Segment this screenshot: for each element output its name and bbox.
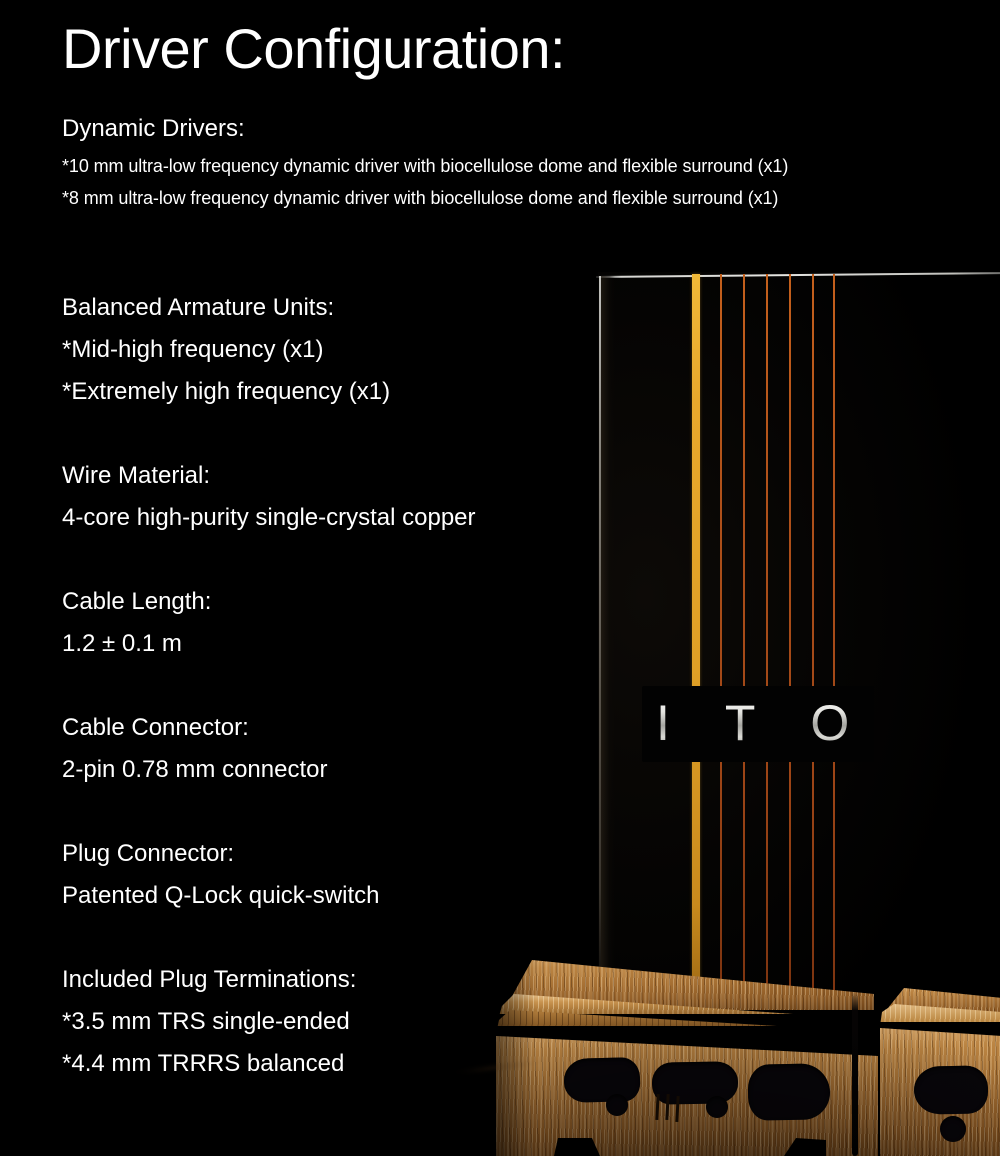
section-cable-connector: Cable Connector: 2-pin 0.78 mm connector — [62, 707, 327, 791]
section-cable-length: Cable Length: 1.2 ± 0.1 m — [62, 581, 211, 665]
box-top-edge-highlight — [596, 270, 1000, 282]
section-line: *3.5 mm TRS single-ended — [62, 1001, 356, 1043]
box-stripe-rust-5 — [812, 274, 814, 990]
section-line: *Extremely high frequency (x1) — [62, 371, 390, 413]
stand-section-seam — [852, 992, 858, 1156]
box-stripe-rust-6 — [833, 274, 835, 990]
brand-wordmark: I T O — [656, 698, 870, 748]
section-heading: Wire Material: — [62, 455, 476, 497]
section-dynamic-drivers: Dynamic Drivers: *10 mm ultra-low freque… — [62, 108, 788, 214]
stand-carving-hole-2 — [706, 1096, 728, 1118]
section-balanced-armature-units: Balanced Armature Units: *Mid-high frequ… — [62, 287, 390, 413]
section-heading: Cable Length: — [62, 581, 211, 623]
stand-carving-hole-1 — [606, 1094, 628, 1116]
section-plug-connector: Plug Connector: Patented Q-Lock quick-sw… — [62, 833, 379, 917]
section-line: *8 mm ultra-low frequency dynamic driver… — [62, 182, 788, 214]
box-stripe-rust-4 — [789, 274, 791, 990]
packaging-box — [598, 272, 1000, 992]
section-line: *Mid-high frequency (x1) — [62, 329, 390, 371]
section-line: 4-core high-purity single-crystal copper — [62, 497, 476, 539]
box-stripe-rust-1 — [720, 274, 722, 990]
section-line: *4.4 mm TRRRS balanced — [62, 1043, 356, 1085]
section-heading: Cable Connector: — [62, 707, 327, 749]
stand-carving-opening-1 — [563, 1057, 640, 1103]
stand-carving-opening-2 — [652, 1061, 739, 1104]
product-photo: I T O — [420, 250, 1000, 1156]
page-title: Driver Configuration: — [62, 18, 565, 80]
stand-carving-hole-3 — [940, 1116, 966, 1142]
wooden-display-stand — [420, 946, 1000, 1156]
section-heading: Plug Connector: — [62, 833, 379, 875]
section-heading: Balanced Armature Units: — [62, 287, 390, 329]
stand-carving-opening-3 — [748, 1063, 831, 1120]
stand-carving-opening-4 — [914, 1065, 989, 1114]
section-included-plug-terminations: Included Plug Terminations: *3.5 mm TRS … — [62, 959, 356, 1085]
box-stripe-rust-2 — [743, 274, 745, 990]
section-line: *10 mm ultra-low frequency dynamic drive… — [62, 150, 788, 182]
box-stripe-gold — [692, 274, 700, 990]
section-wire-material: Wire Material: 4-core high-purity single… — [62, 455, 476, 539]
section-heading: Dynamic Drivers: — [62, 108, 788, 150]
section-line: 1.2 ± 0.1 m — [62, 623, 211, 665]
box-left-edge-highlight — [599, 276, 601, 976]
box-left-face-shading — [601, 276, 615, 976]
box-stripe-rust-3 — [766, 274, 768, 990]
section-line: 2-pin 0.78 mm connector — [62, 749, 327, 791]
section-line: Patented Q-Lock quick-switch — [62, 875, 379, 917]
product-spec-page: I T O Driver Configuration: — [0, 0, 1000, 1156]
section-heading: Included Plug Terminations: — [62, 959, 356, 1001]
